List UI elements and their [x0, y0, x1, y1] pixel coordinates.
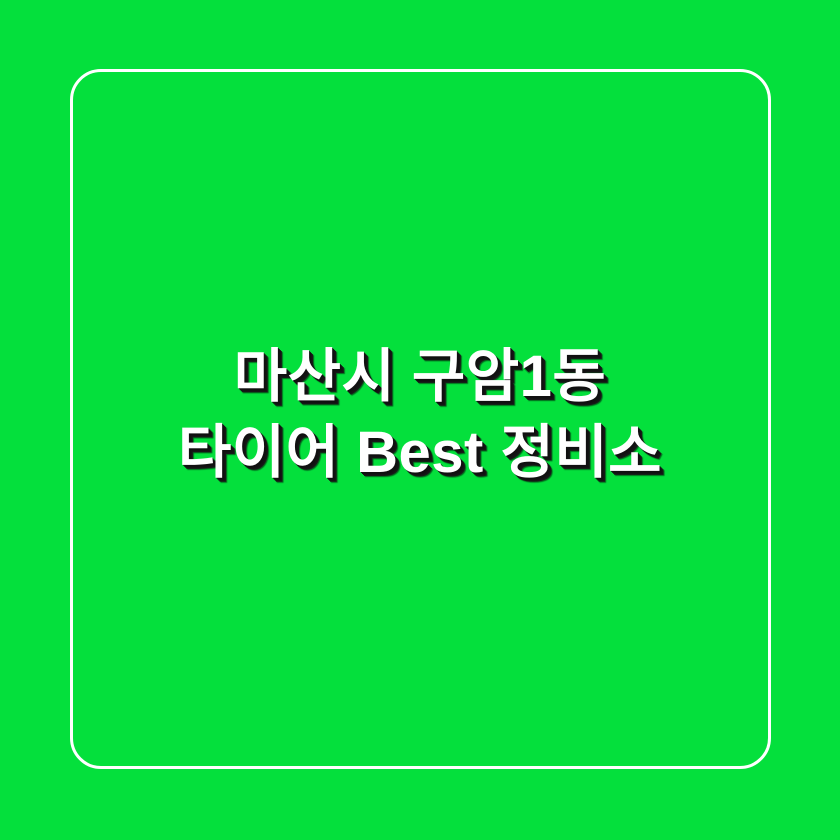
- headline-block: 마산시 구암1동 타이어 Best 정비소: [0, 345, 840, 485]
- headline-line-2: 타이어 Best 정비소: [0, 421, 840, 485]
- headline-line-1: 마산시 구암1동: [0, 345, 840, 409]
- promo-card: 마산시 구암1동 타이어 Best 정비소: [0, 0, 840, 840]
